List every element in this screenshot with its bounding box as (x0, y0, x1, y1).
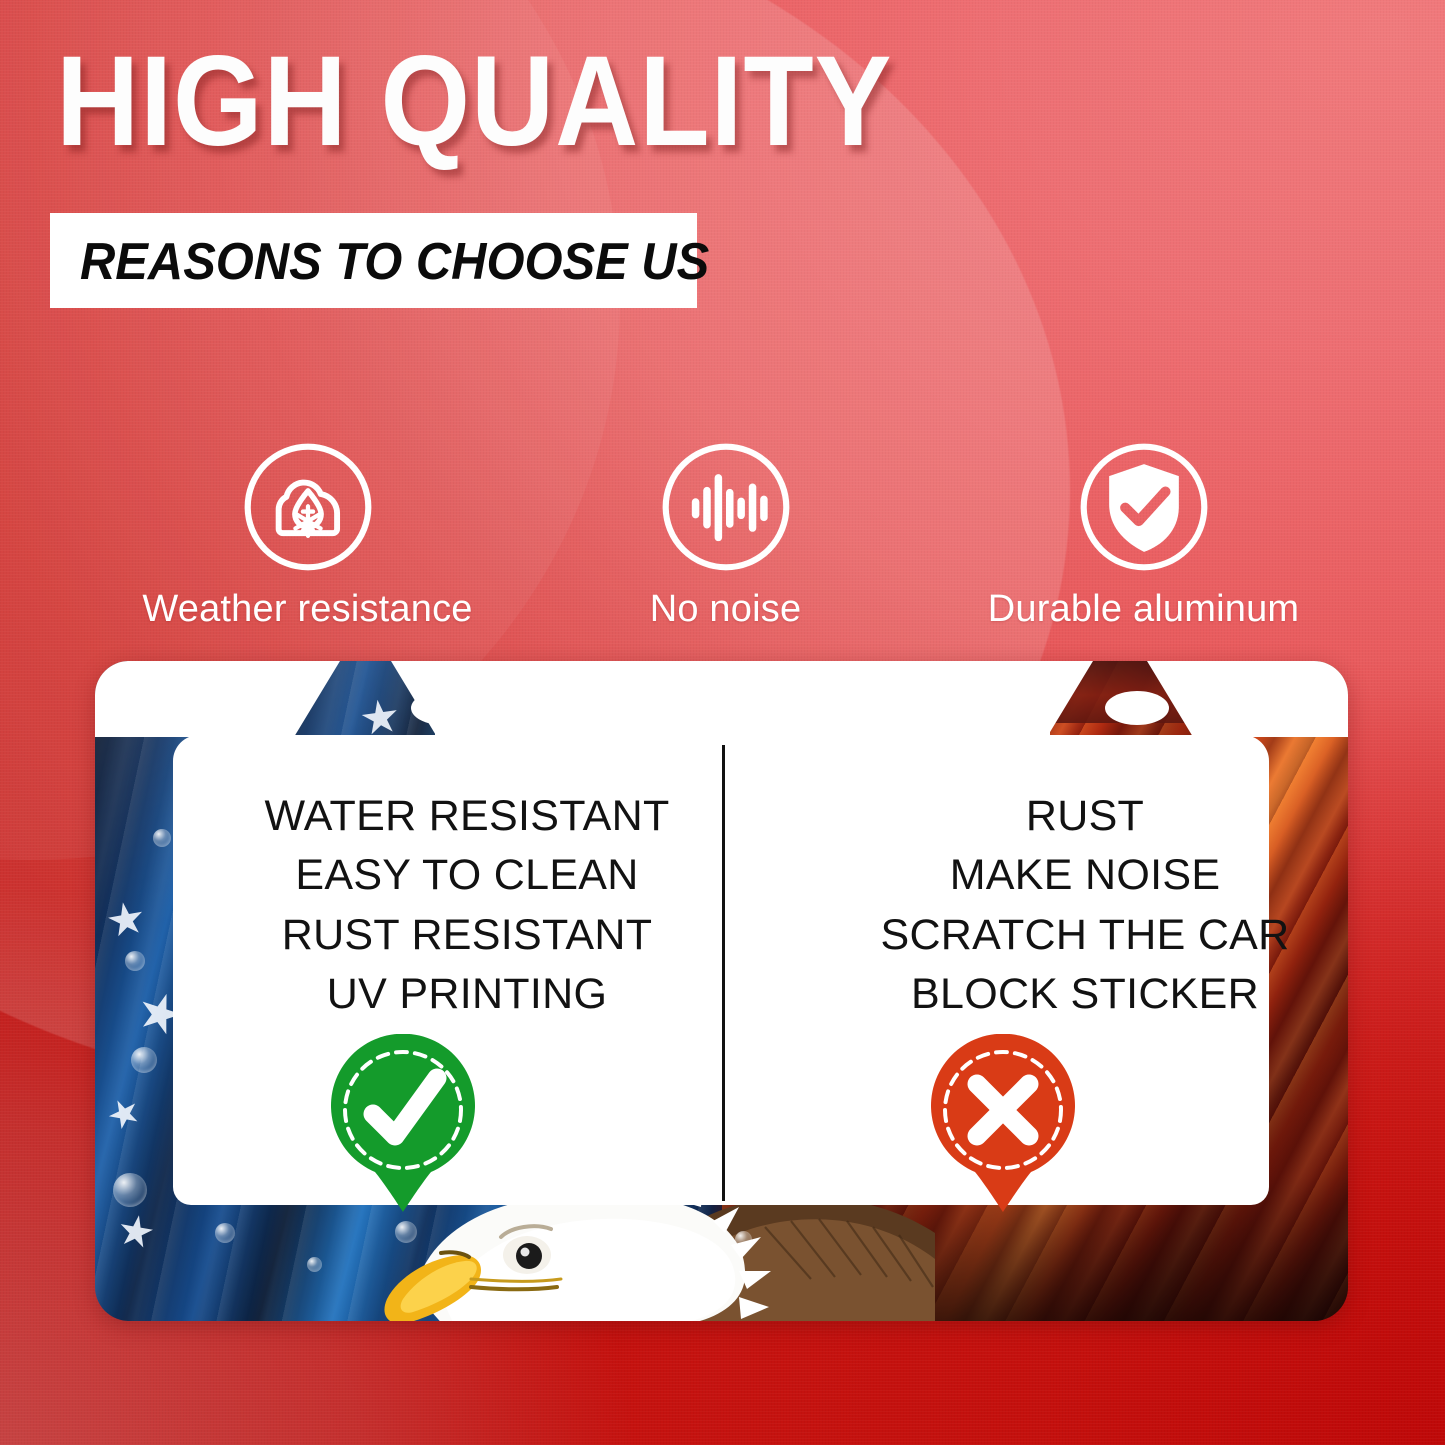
cons-list: RUST MAKE NOISE SCRATCH THE CAR BLOCK ST… (825, 787, 1345, 1024)
water-droplet (153, 829, 171, 847)
water-droplet (307, 1257, 322, 1272)
pros-item: UV PRINTING (207, 965, 727, 1024)
page-title: HIGH QUALITY (56, 38, 956, 166)
check-mark-badge-icon (327, 1034, 479, 1212)
feature-label-weather-resistance: Weather resistance (142, 588, 472, 631)
feature-durable-aluminum: Durable aluminum (935, 440, 1353, 631)
subtitle-banner: REASONS TO CHOOSE US (50, 213, 697, 308)
cons-item: MAKE NOISE (825, 846, 1345, 905)
cloud-rain-snow-icon (241, 440, 375, 574)
pros-list: WATER RESISTANT EASY TO CLEAN RUST RESIS… (207, 787, 727, 1024)
water-droplet (131, 1047, 157, 1073)
cons-item: BLOCK STICKER (825, 965, 1345, 1024)
shield-check-icon (1077, 440, 1211, 574)
feature-label-no-noise: No noise (650, 588, 802, 631)
water-droplet (735, 1231, 752, 1248)
pros-item: EASY TO CLEAN (207, 846, 727, 905)
cross-mark-badge-icon (927, 1034, 1079, 1212)
water-droplet (113, 1173, 147, 1207)
feature-no-noise: No noise (517, 440, 935, 631)
cons-item: SCRATCH THE CAR (825, 906, 1345, 965)
water-droplet (395, 1221, 417, 1243)
plate-top-notch-mid (435, 661, 1050, 737)
mounting-hole-right (1105, 691, 1169, 725)
feature-row: Weather resistance No noise (0, 440, 1445, 640)
license-plate-frame-product: WATER RESISTANT EASY TO CLEAN RUST RESIS… (95, 661, 1348, 1321)
pros-item: RUST RESISTANT (207, 906, 727, 965)
sound-wave-icon (659, 440, 793, 574)
plate-top-notch-right (1192, 661, 1348, 737)
cons-item: RUST (825, 787, 1345, 846)
water-droplet (125, 951, 145, 971)
promo-image-canvas: HIGH QUALITY REASONS TO CHOOSE US (0, 0, 1445, 1445)
subtitle-text: REASONS TO CHOOSE US (80, 232, 709, 292)
feature-label-durable-aluminum: Durable aluminum (988, 588, 1300, 631)
feature-weather-resistance: Weather resistance (99, 440, 517, 631)
plate-top-notch-left (95, 661, 294, 737)
water-droplet (215, 1223, 235, 1243)
pros-item: WATER RESISTANT (207, 787, 727, 846)
